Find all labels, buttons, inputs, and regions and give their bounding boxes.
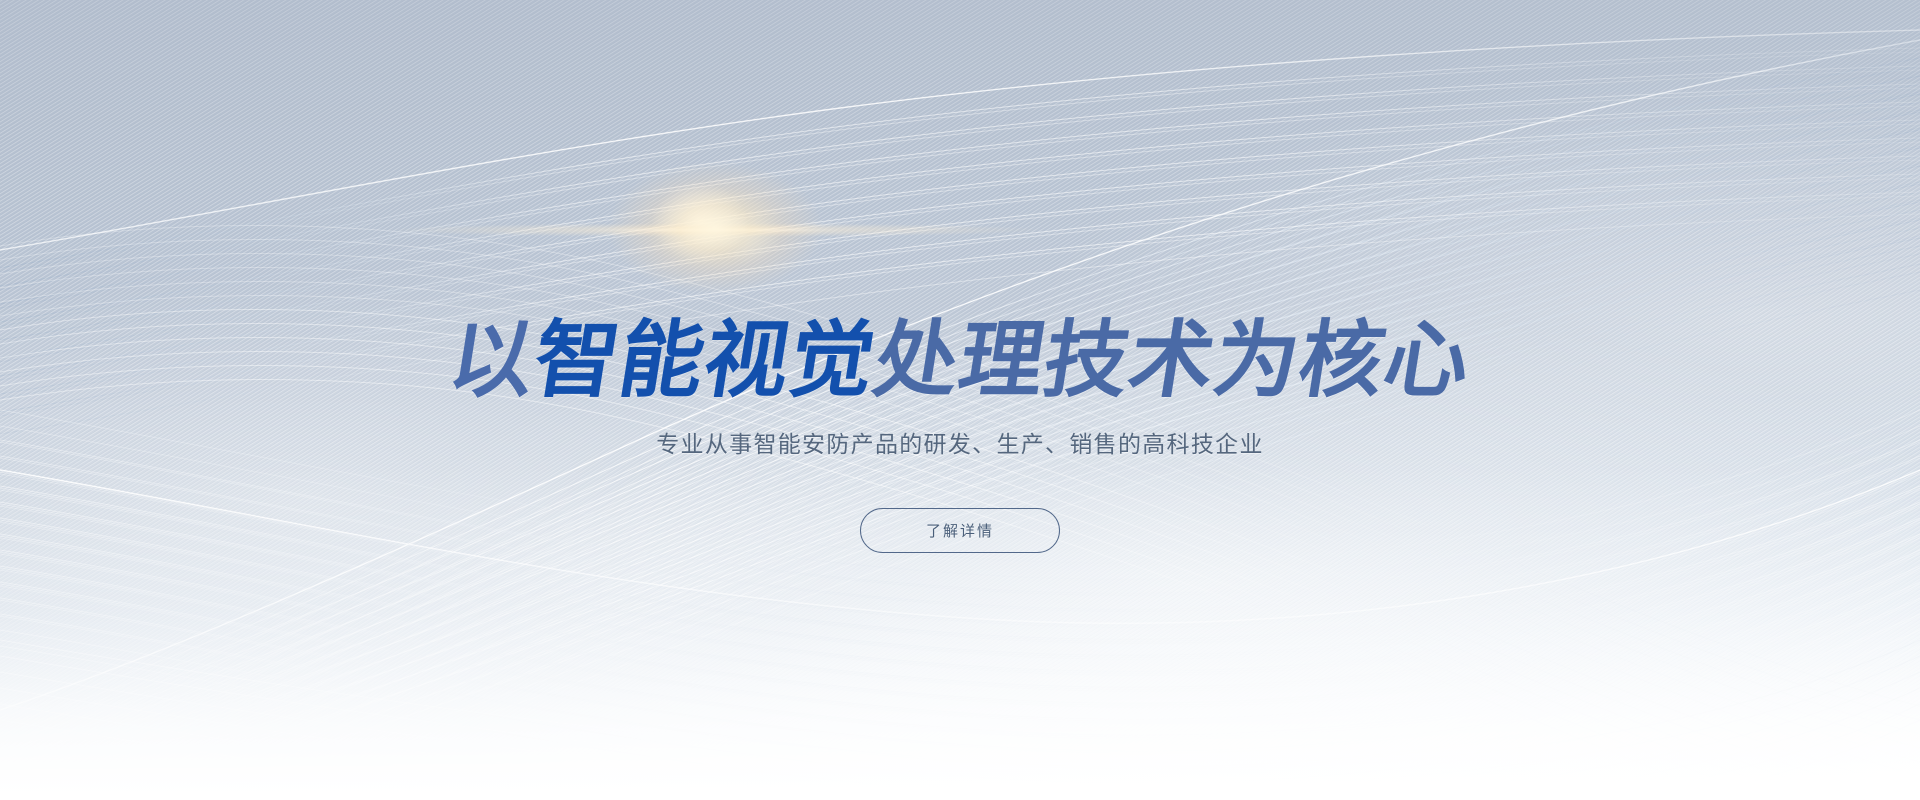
headline-segment-1: 以 (443, 318, 541, 402)
hero-banner: 以智能视觉处理技术为核心 专业从事智能安防产品的研发、生产、销售的高科技企业 了… (0, 0, 1920, 800)
hero-content: 以智能视觉处理技术为核心 专业从事智能安防产品的研发、生产、销售的高科技企业 了… (0, 0, 1920, 800)
headline-segment-2: 智能视觉 (528, 318, 881, 402)
headline-segment-3: 处理技术为核心 (868, 318, 1476, 402)
page-title: 以智能视觉处理技术为核心 (0, 318, 1920, 402)
page-subtitle: 专业从事智能安防产品的研发、生产、销售的高科技企业 (0, 427, 1920, 461)
cta-container: 了解详情 (0, 508, 1920, 553)
learn-more-button[interactable]: 了解详情 (860, 508, 1060, 553)
